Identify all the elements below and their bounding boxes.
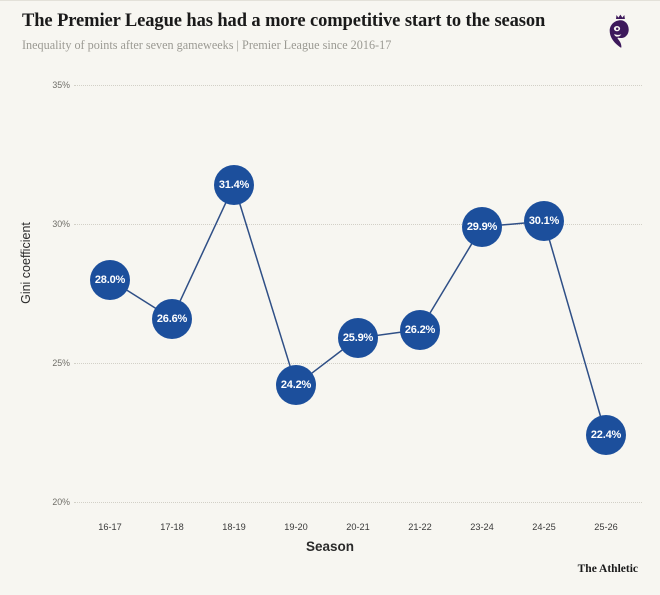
x-axis-title: Season (0, 539, 660, 554)
series-line (0, 1, 660, 595)
x-tick-label: 25-26 (575, 522, 637, 532)
chart-card: The Premier League has had a more compet… (0, 0, 660, 594)
y-tick-label: 35% (36, 80, 70, 90)
x-tick-label: 24-25 (513, 522, 575, 532)
x-tick-label: 18-19 (203, 522, 265, 532)
data-point-marker[interactable]: 28.0% (90, 260, 130, 300)
y-axis-title: Gini coefficient (19, 203, 33, 323)
source-credit: The Athletic (578, 563, 638, 575)
y-tick-label: 30% (36, 219, 70, 229)
y-tick-label: 25% (36, 358, 70, 368)
x-tick-label: 20-21 (327, 522, 389, 532)
x-tick-label: 19-20 (265, 522, 327, 532)
gridline-25 (74, 363, 642, 364)
data-point-marker[interactable]: 26.2% (400, 310, 440, 350)
data-point-marker[interactable]: 26.6% (152, 299, 192, 339)
x-tick-label: 23-24 (451, 522, 513, 532)
data-point-marker[interactable]: 24.2% (276, 365, 316, 405)
x-tick-label: 17-18 (141, 522, 203, 532)
data-point-marker[interactable]: 22.4% (586, 415, 626, 455)
gridline-20 (74, 502, 642, 503)
data-point-marker[interactable]: 25.9% (338, 318, 378, 358)
x-tick-label: 16-17 (79, 522, 141, 532)
data-point-marker[interactable]: 30.1% (524, 201, 564, 241)
y-tick-label: 20% (36, 497, 70, 507)
x-tick-label: 21-22 (389, 522, 451, 532)
chart-plot-area: Gini coefficient 35% 30% 25% 20% 28.0% 2… (0, 1, 660, 595)
data-point-marker[interactable]: 31.4% (214, 165, 254, 205)
data-point-marker[interactable]: 29.9% (462, 207, 502, 247)
gridline-35 (74, 85, 642, 86)
